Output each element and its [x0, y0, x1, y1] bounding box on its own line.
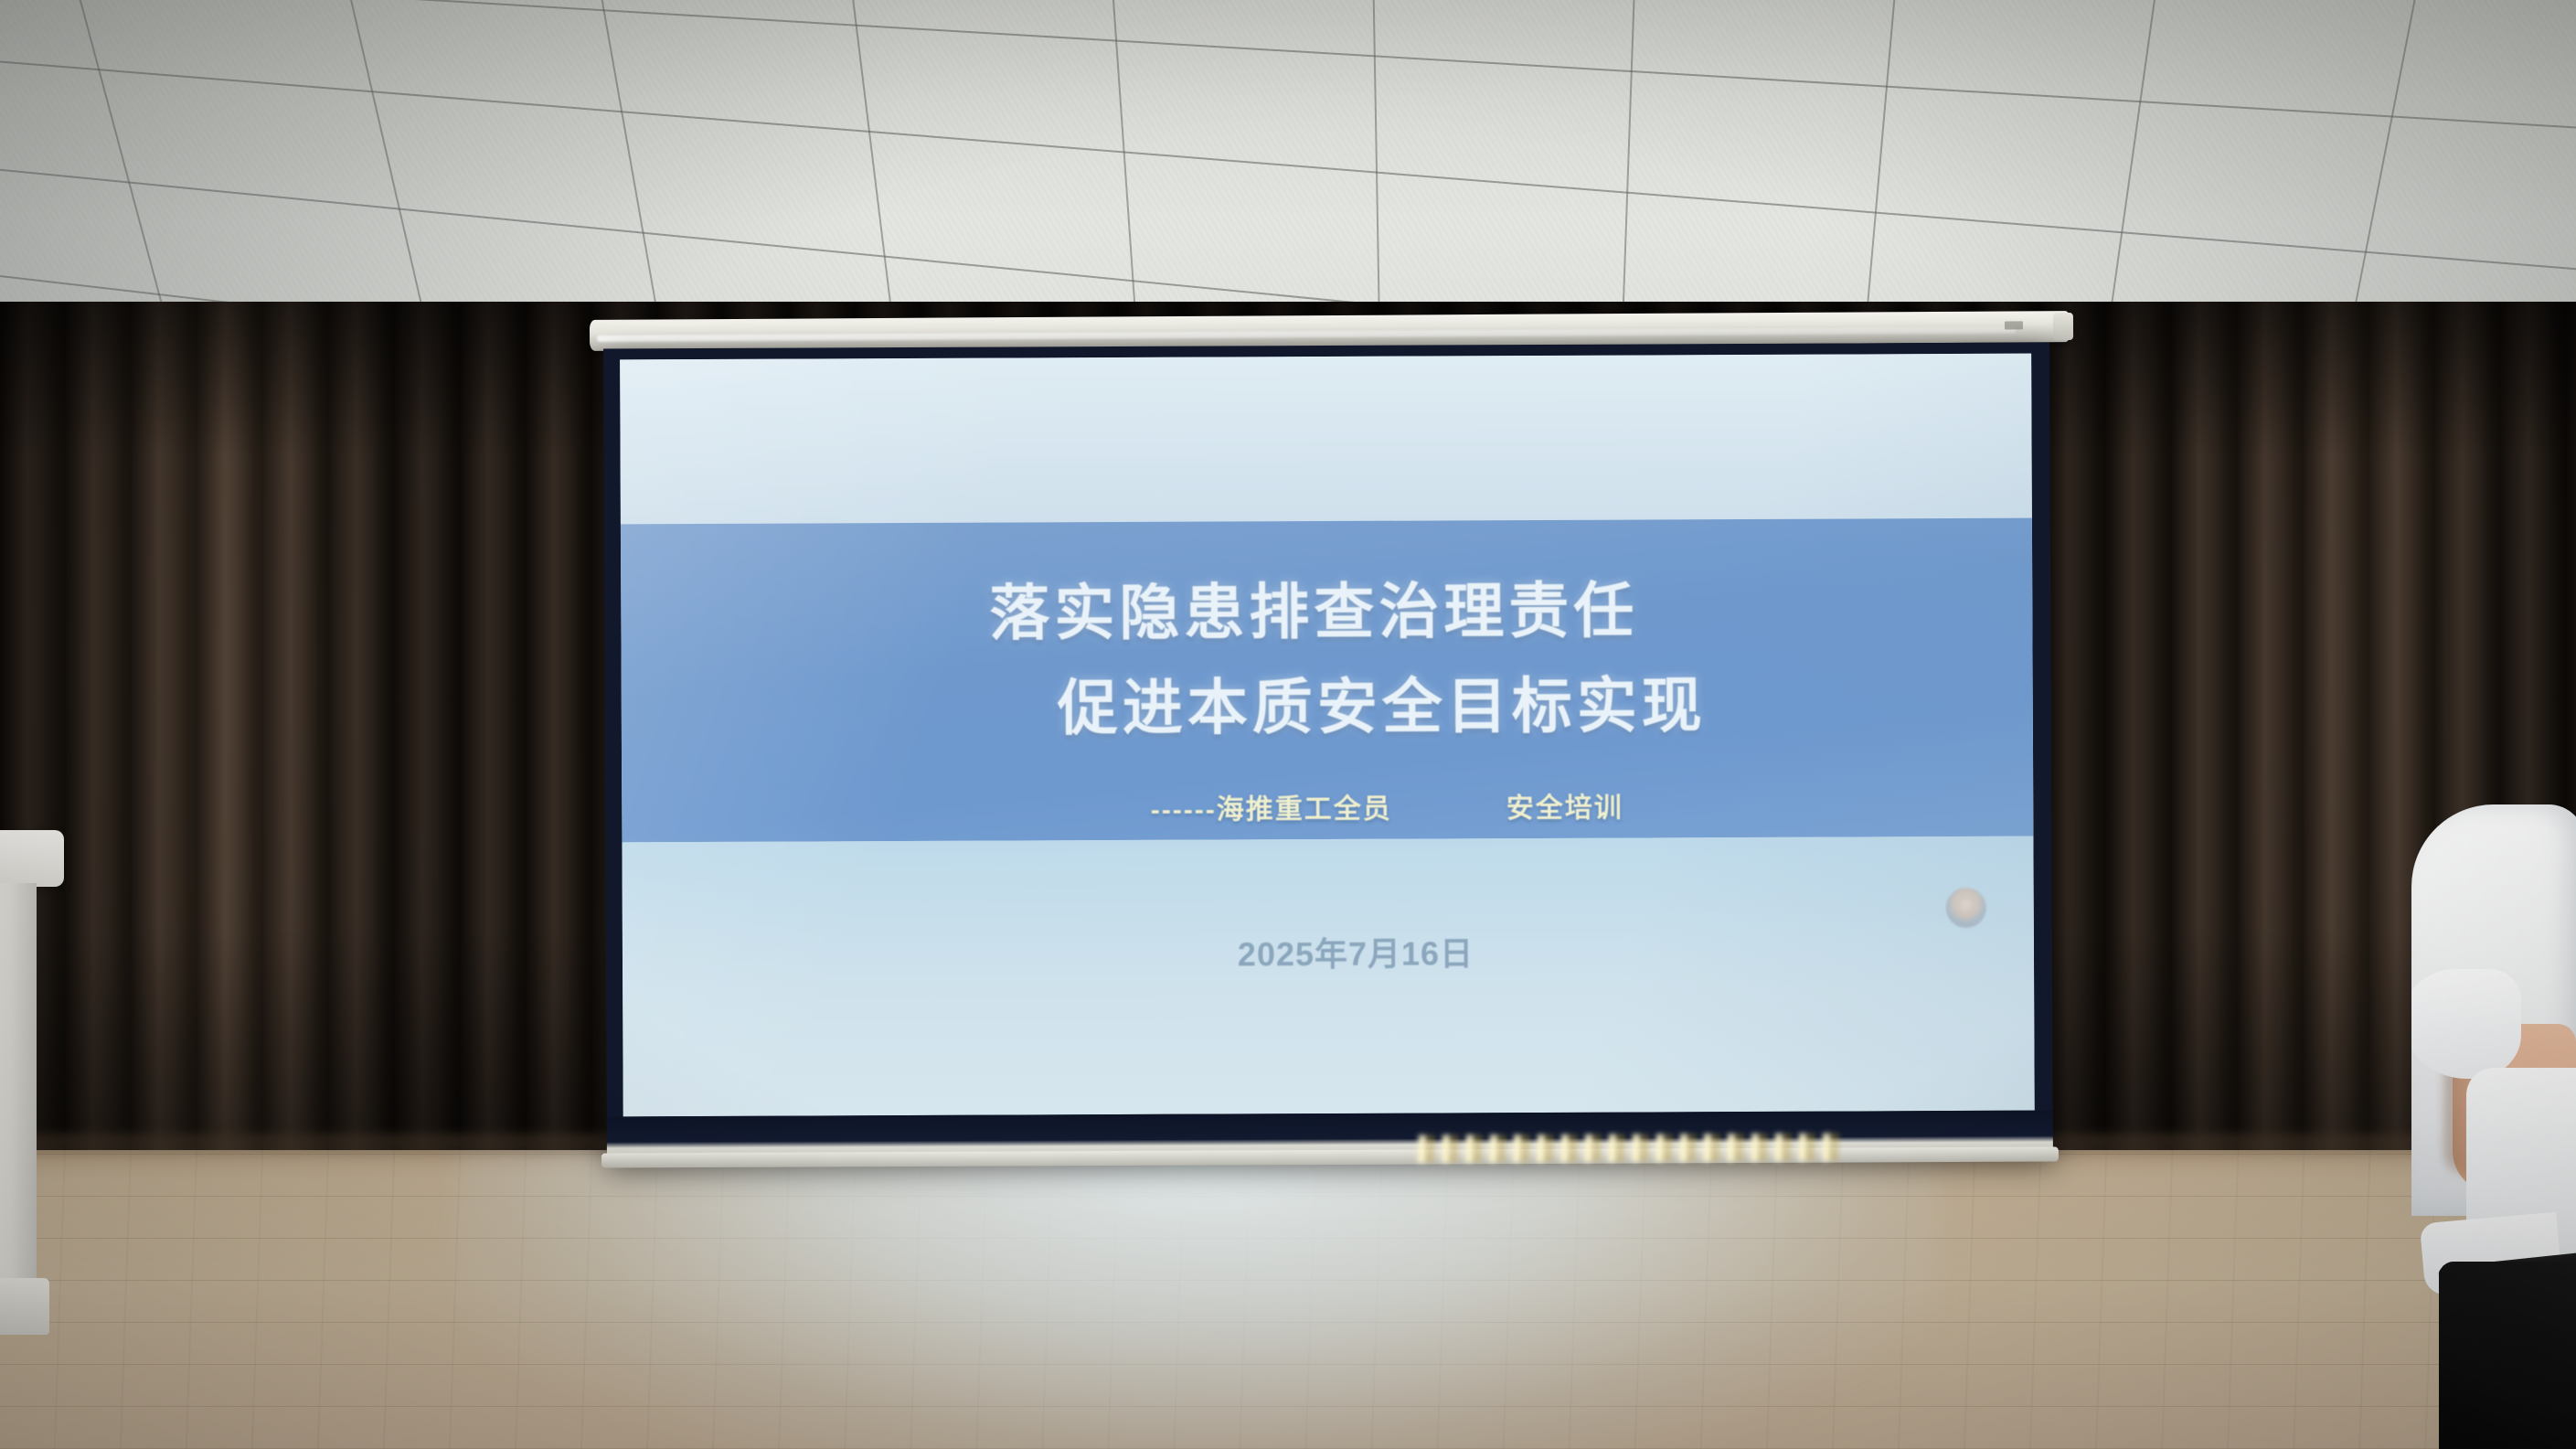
lectern-top — [0, 830, 64, 887]
floor-light-reflection — [1411, 1134, 1841, 1163]
presentation-slide: 落实隐患排查治理责任 促进本质安全目标实现 ------海推重工全员 安全培训 … — [620, 354, 2035, 1117]
person-sleeve — [2411, 969, 2521, 1079]
projection-screen: 落实隐患排查治理责任 促进本质安全目标实现 ------海推重工全员 安全培训 … — [603, 343, 2053, 1161]
roller-brand-label — [2005, 321, 2023, 329]
roller-end-cap — [2053, 313, 2073, 340]
roller-highlight — [597, 326, 2016, 341]
slide-title-line-2: 促进本质安全目标实现 — [622, 655, 2033, 750]
lectern-base — [0, 1278, 49, 1335]
lectern — [0, 830, 60, 1342]
slide-date: 2025年7月16日 — [623, 925, 2034, 979]
projector-light-spill — [457, 1150, 1938, 1449]
slide-top-background — [620, 354, 2032, 525]
person-trousers — [2439, 1262, 2576, 1449]
screen-surface: 落实隐患排查治理责任 促进本质安全目标实现 ------海推重工全员 安全培训 … — [620, 354, 2035, 1117]
room-photo-scene: 落实隐患排查治理责任 促进本质安全目标实现 ------海推重工全员 安全培训 … — [0, 0, 2576, 1449]
lectern-column — [0, 883, 37, 1285]
slide-title-line-1: 落实隐患排查治理责任 — [621, 560, 2032, 655]
person-in-white-shirt — [2411, 804, 2576, 1449]
slide-subtitle-row: ------海推重工全员 安全培训 — [622, 783, 2033, 830]
screen-weight-bar — [607, 1111, 2053, 1161]
presenter-avatar-icon — [1946, 888, 1986, 928]
wood-floor — [0, 1150, 2576, 1449]
slide-subtitle-left: ------海推重工全员 — [1151, 786, 1392, 827]
slide-subtitle-right: 安全培训 — [1506, 785, 1623, 826]
